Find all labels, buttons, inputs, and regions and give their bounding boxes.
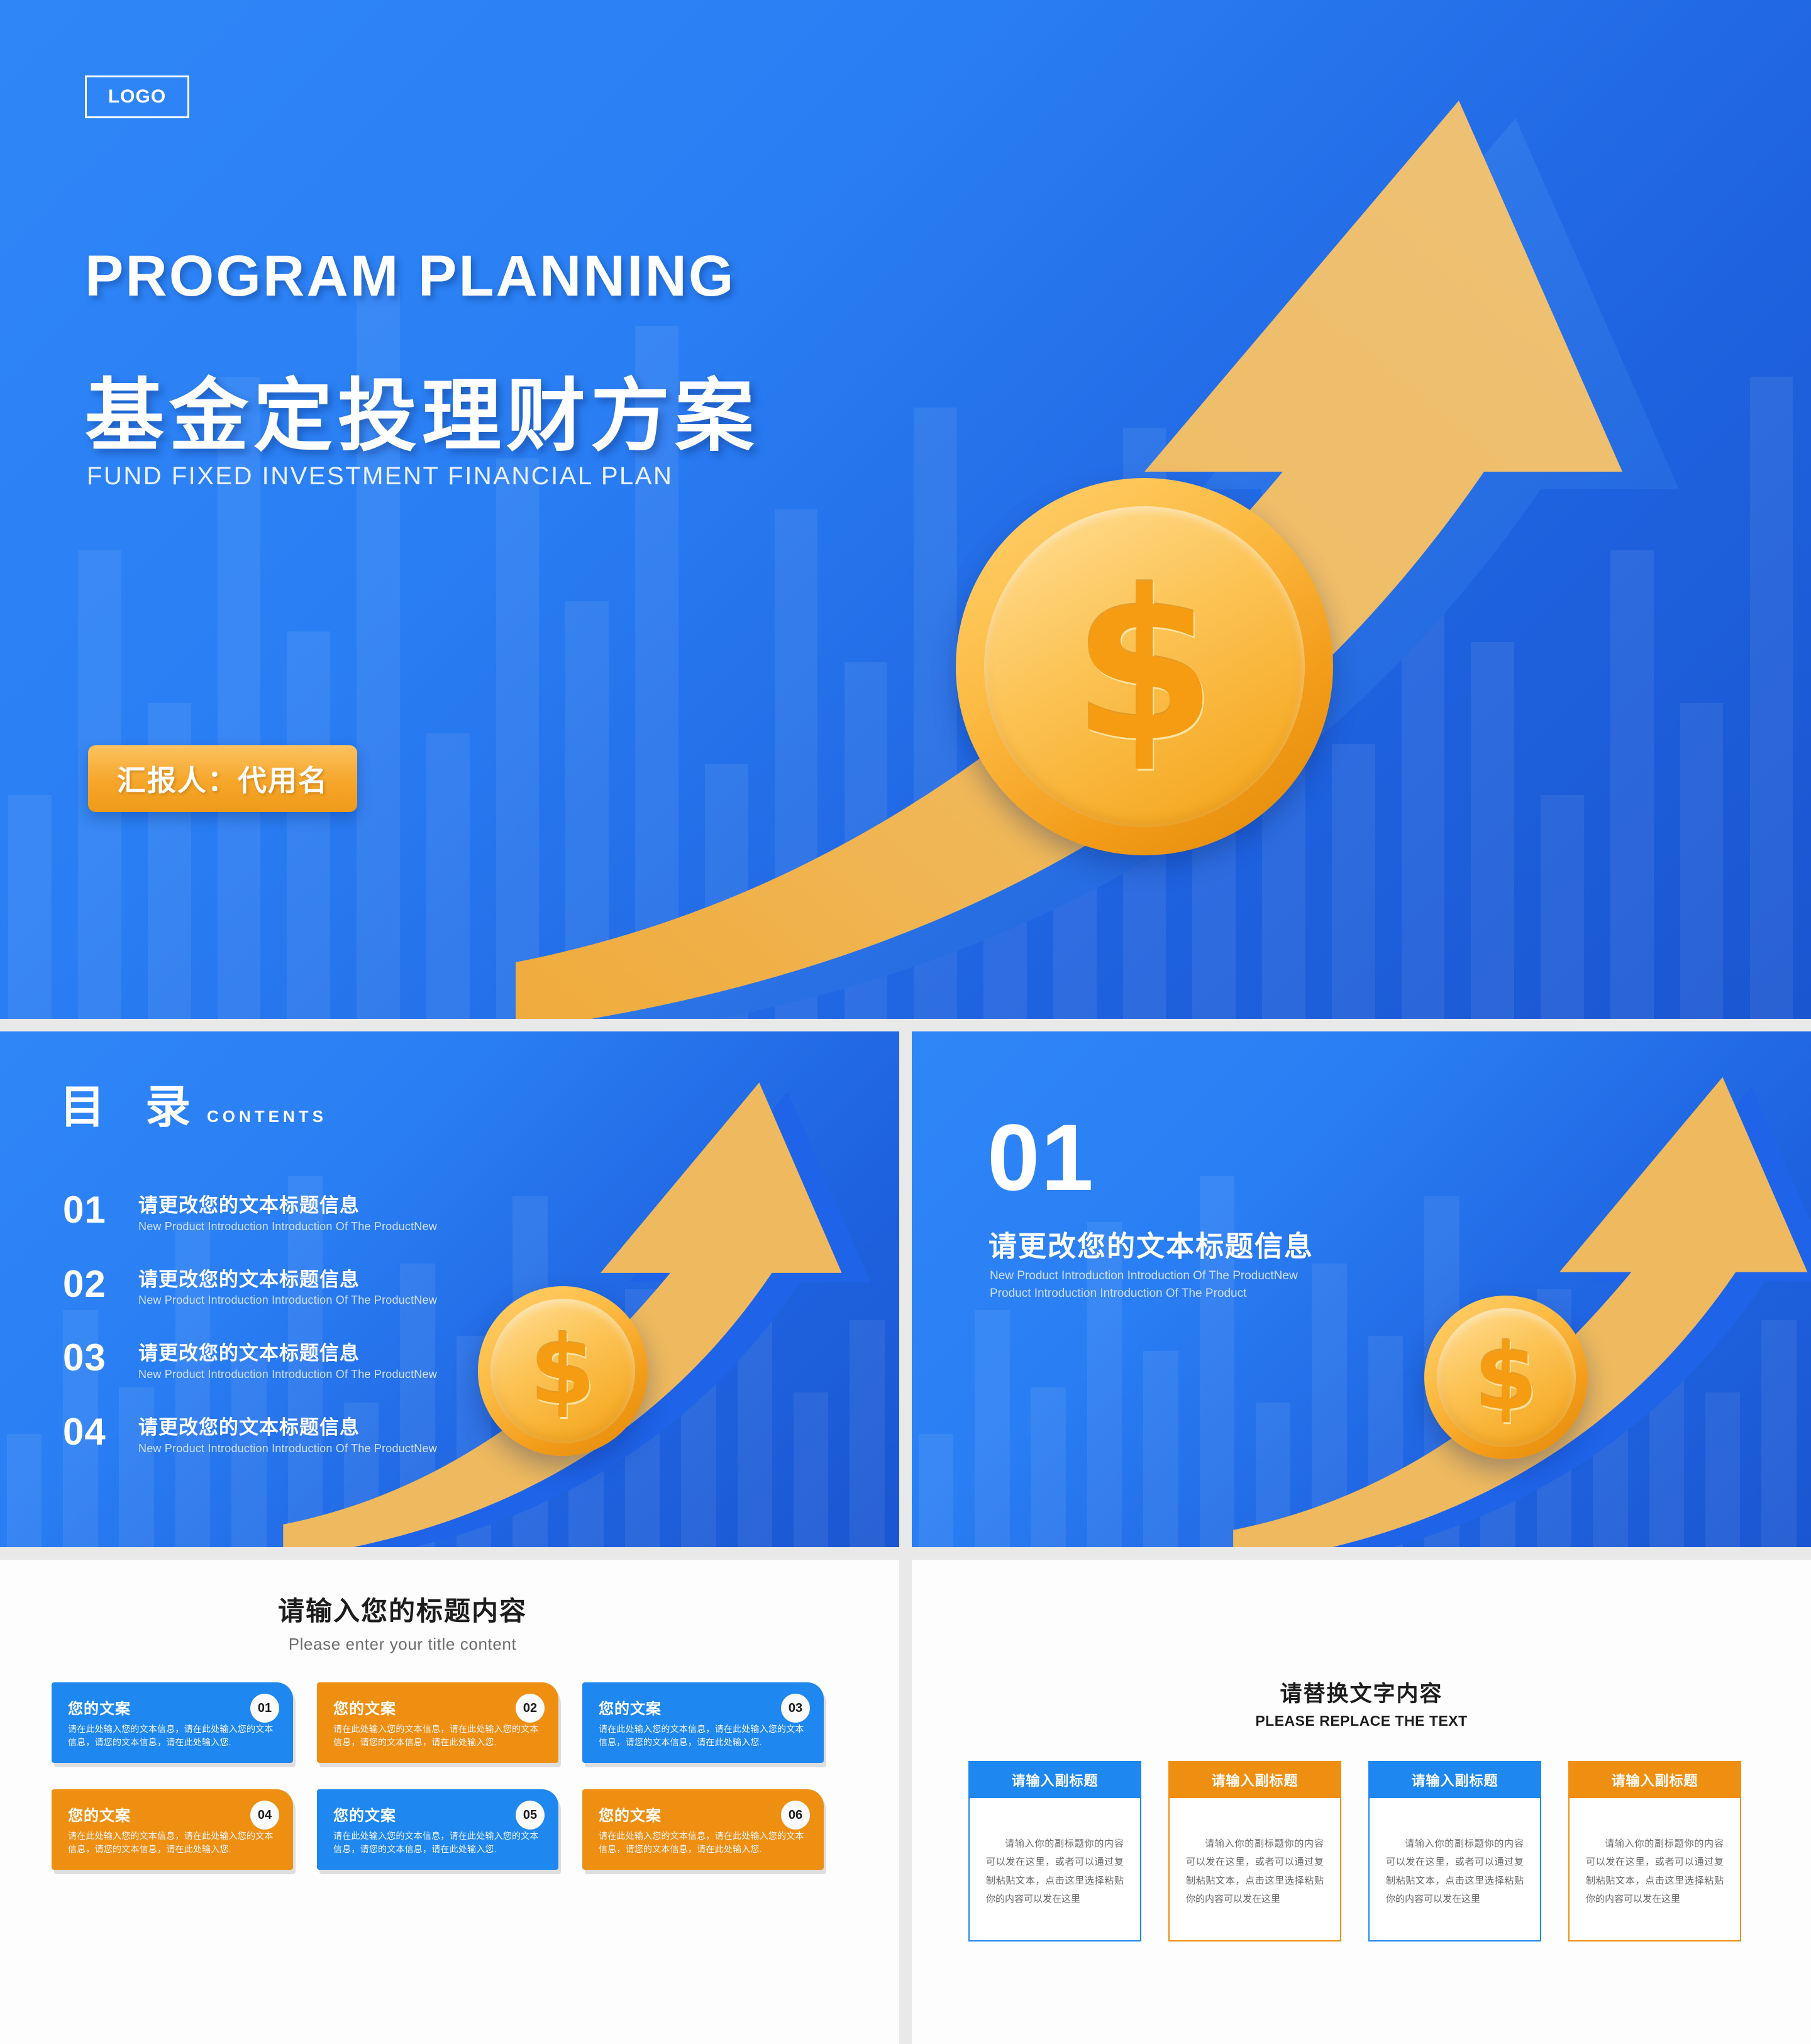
list-item[interactable]: 01请更改您的文本标题信息New Product Introduction In… <box>63 1192 516 1233</box>
card-heading: 您的文案 <box>333 1803 542 1825</box>
cards-title-en: Please enter your title content <box>0 1635 899 1654</box>
column-heading: 请输入副标题 <box>1568 1761 1741 1798</box>
dollar-coin-graphic: $ <box>1424 1296 1588 1459</box>
contents-heading: 目 录 CONTENTS <box>60 1085 327 1130</box>
page-title-chinese: 基金定投理财方案 <box>85 352 759 467</box>
card-body: 请在此处输入您的文本信息，请在此处输入您的文本信息，请您的文本信息，请在此处输入… <box>599 1723 807 1749</box>
toc-item-title: 请更改您的文本标题信息 <box>138 1194 437 1217</box>
toc-item-desc: New Product Introduction Introduction Of… <box>138 1442 437 1455</box>
toc-item-number: 02 <box>63 1266 138 1302</box>
presenter-badge[interactable]: 汇报人：代用名 <box>88 745 357 812</box>
slide-six-cards: 请输入您的标题内容 Please enter your title conten… <box>0 1560 899 2044</box>
dollar-sign-icon: $ <box>1072 563 1217 770</box>
coin-face: $ <box>1437 1308 1576 1447</box>
column-card[interactable]: 请输入副标题请输入你的副标题你的内容可以发在这里，或者可以通过复制粘贴文本，点击… <box>968 1761 1141 1941</box>
card-body: 请在此处输入您的文本信息，请在此处输入您的文本信息，请您的文本信息，请在此处输入… <box>599 1830 807 1856</box>
toc-item-desc: New Product Introduction Introduction Of… <box>138 1368 437 1381</box>
card-heading: 您的文案 <box>68 1696 277 1718</box>
columns-slide-heading: 请替换文字内容 PLEASE REPLACE THE TEXT <box>912 1676 1811 1730</box>
cards-title-cn: 请输入您的标题内容 <box>0 1590 899 1628</box>
card-number-badge: 03 <box>781 1694 810 1723</box>
list-item[interactable]: 02请更改您的文本标题信息New Product Introduction In… <box>63 1266 516 1308</box>
toc-item-title: 请更改您的文本标题信息 <box>138 1269 437 1291</box>
toc-item-number: 01 <box>63 1192 138 1228</box>
contents-list: 01请更改您的文本标题信息New Product Introduction In… <box>63 1192 516 1488</box>
content-card[interactable]: 04您的文案请在此处输入您的文本信息，请在此处输入您的文本信息，请您的文本信息，… <box>52 1789 293 1870</box>
card-heading: 您的文案 <box>333 1696 542 1718</box>
column-heading: 请输入副标题 <box>1368 1761 1541 1798</box>
slide-section-divider: $ 01 请更改您的文本标题信息 New Product Introductio… <box>912 1031 1811 1547</box>
card-number-badge: 05 <box>516 1801 545 1830</box>
toc-item-desc: New Product Introduction Introduction Of… <box>138 1220 437 1233</box>
columns-title-en: PLEASE REPLACE THE TEXT <box>912 1713 1811 1730</box>
column-body: 请输入你的副标题你的内容可以发在这里，或者可以通过复制粘贴文本，点击这里选择粘贴… <box>968 1798 1141 1941</box>
card-body: 请在此处输入您的文本信息，请在此处输入您的文本信息，请您的文本信息，请在此处输入… <box>333 1723 542 1749</box>
section-description: New Product Introduction Introduction Of… <box>990 1267 1323 1302</box>
dollar-sign-icon: $ <box>530 1324 595 1418</box>
column-heading: 请输入副标题 <box>968 1761 1141 1798</box>
card-number-badge: 06 <box>781 1801 810 1830</box>
column-heading: 请输入副标题 <box>1168 1761 1341 1798</box>
list-item[interactable]: 04请更改您的文本标题信息New Product Introduction In… <box>63 1414 516 1455</box>
content-card[interactable]: 05您的文案请在此处输入您的文本信息，请在此处输入您的文本信息，请您的文本信息，… <box>317 1789 558 1870</box>
card-heading: 您的文案 <box>599 1803 807 1825</box>
card-heading: 您的文案 <box>68 1803 277 1825</box>
cards-slide-heading: 请输入您的标题内容 Please enter your title conten… <box>0 1590 899 1654</box>
slide-contents: $ 目 录 CONTENTS 01请更改您的文本标题信息New Product … <box>0 1031 899 1547</box>
card-body: 请在此处输入您的文本信息，请在此处输入您的文本信息，请您的文本信息，请在此处输入… <box>333 1830 542 1856</box>
columns-title-cn: 请替换文字内容 <box>912 1676 1811 1708</box>
card-grid: 01您的文案请在此处输入您的文本信息，请在此处输入您的文本信息，请您的文本信息，… <box>52 1682 851 1870</box>
toc-item-desc: New Product Introduction Introduction Of… <box>138 1294 437 1307</box>
card-number-badge: 01 <box>250 1694 279 1723</box>
column-card[interactable]: 请输入副标题请输入你的副标题你的内容可以发在这里，或者可以通过复制粘贴文本，点击… <box>1368 1761 1541 1941</box>
slide-deck: $ LOGO PROGRAM PLANNING 基金定投理财方案 FUND FI… <box>0 0 1811 2044</box>
content-card[interactable]: 06您的文案请在此处输入您的文本信息，请在此处输入您的文本信息，请您的文本信息，… <box>582 1789 824 1870</box>
toc-item-title: 请更改您的文本标题信息 <box>138 1416 437 1439</box>
slide-four-columns: 请替换文字内容 PLEASE REPLACE THE TEXT 请输入副标题请输… <box>912 1560 1811 2044</box>
card-body: 请在此处输入您的文本信息，请在此处输入您的文本信息，请您的文本信息，请在此处输入… <box>68 1723 277 1749</box>
section-title: 请更改您的文本标题信息 <box>989 1223 1314 1264</box>
logo-text: LOGO <box>108 86 166 108</box>
dollar-coin-graphic: $ <box>956 478 1333 855</box>
contents-heading-cn: 目 录 <box>60 1085 204 1130</box>
coin-face: $ <box>984 506 1305 827</box>
content-card[interactable]: 02您的文案请在此处输入您的文本信息，请在此处输入您的文本信息，请您的文本信息，… <box>317 1682 558 1763</box>
logo-placeholder[interactable]: LOGO <box>85 75 189 118</box>
column-body: 请输入你的副标题你的内容可以发在这里，或者可以通过复制粘贴文本，点击这里选择粘贴… <box>1368 1798 1541 1941</box>
toc-item-number: 03 <box>63 1340 138 1375</box>
section-number: 01 <box>987 1110 1095 1204</box>
list-item[interactable]: 03请更改您的文本标题信息New Product Introduction In… <box>63 1340 516 1381</box>
column-body: 请输入你的副标题你的内容可以发在这里，或者可以通过复制粘贴文本，点击这里选择粘贴… <box>1168 1798 1341 1941</box>
column-card[interactable]: 请输入副标题请输入你的副标题你的内容可以发在这里，或者可以通过复制粘贴文本，点击… <box>1168 1761 1341 1941</box>
contents-heading-en: CONTENTS <box>207 1107 327 1126</box>
column-grid: 请输入副标题请输入你的副标题你的内容可以发在这里，或者可以通过复制粘贴文本，点击… <box>968 1761 1754 1941</box>
card-body: 请在此处输入您的文本信息，请在此处输入您的文本信息，请您的文本信息，请在此处输入… <box>68 1830 277 1856</box>
page-subtitle: FUND FIXED INVESTMENT FINANCIAL PLAN <box>87 462 673 491</box>
card-heading: 您的文案 <box>599 1696 807 1718</box>
slide-title: $ LOGO PROGRAM PLANNING 基金定投理财方案 FUND FI… <box>0 0 1811 1019</box>
toc-item-title: 请更改您的文本标题信息 <box>138 1342 437 1365</box>
dollar-sign-icon: $ <box>1475 1332 1538 1423</box>
content-card[interactable]: 03您的文案请在此处输入您的文本信息，请在此处输入您的文本信息，请您的文本信息，… <box>582 1682 824 1763</box>
toc-item-number: 04 <box>63 1414 138 1450</box>
column-body: 请输入你的副标题你的内容可以发在这里，或者可以通过复制粘贴文本，点击这里选择粘贴… <box>1568 1798 1741 1941</box>
card-number-badge: 04 <box>250 1801 279 1830</box>
content-card[interactable]: 01您的文案请在此处输入您的文本信息，请在此处输入您的文本信息，请您的文本信息，… <box>52 1682 293 1763</box>
card-number-badge: 02 <box>516 1694 545 1723</box>
page-title-english: PROGRAM PLANNING <box>85 243 735 309</box>
background-bar-chart <box>0 0 1811 1019</box>
column-card[interactable]: 请输入副标题请输入你的副标题你的内容可以发在这里，或者可以通过复制粘贴文本，点击… <box>1568 1761 1741 1941</box>
